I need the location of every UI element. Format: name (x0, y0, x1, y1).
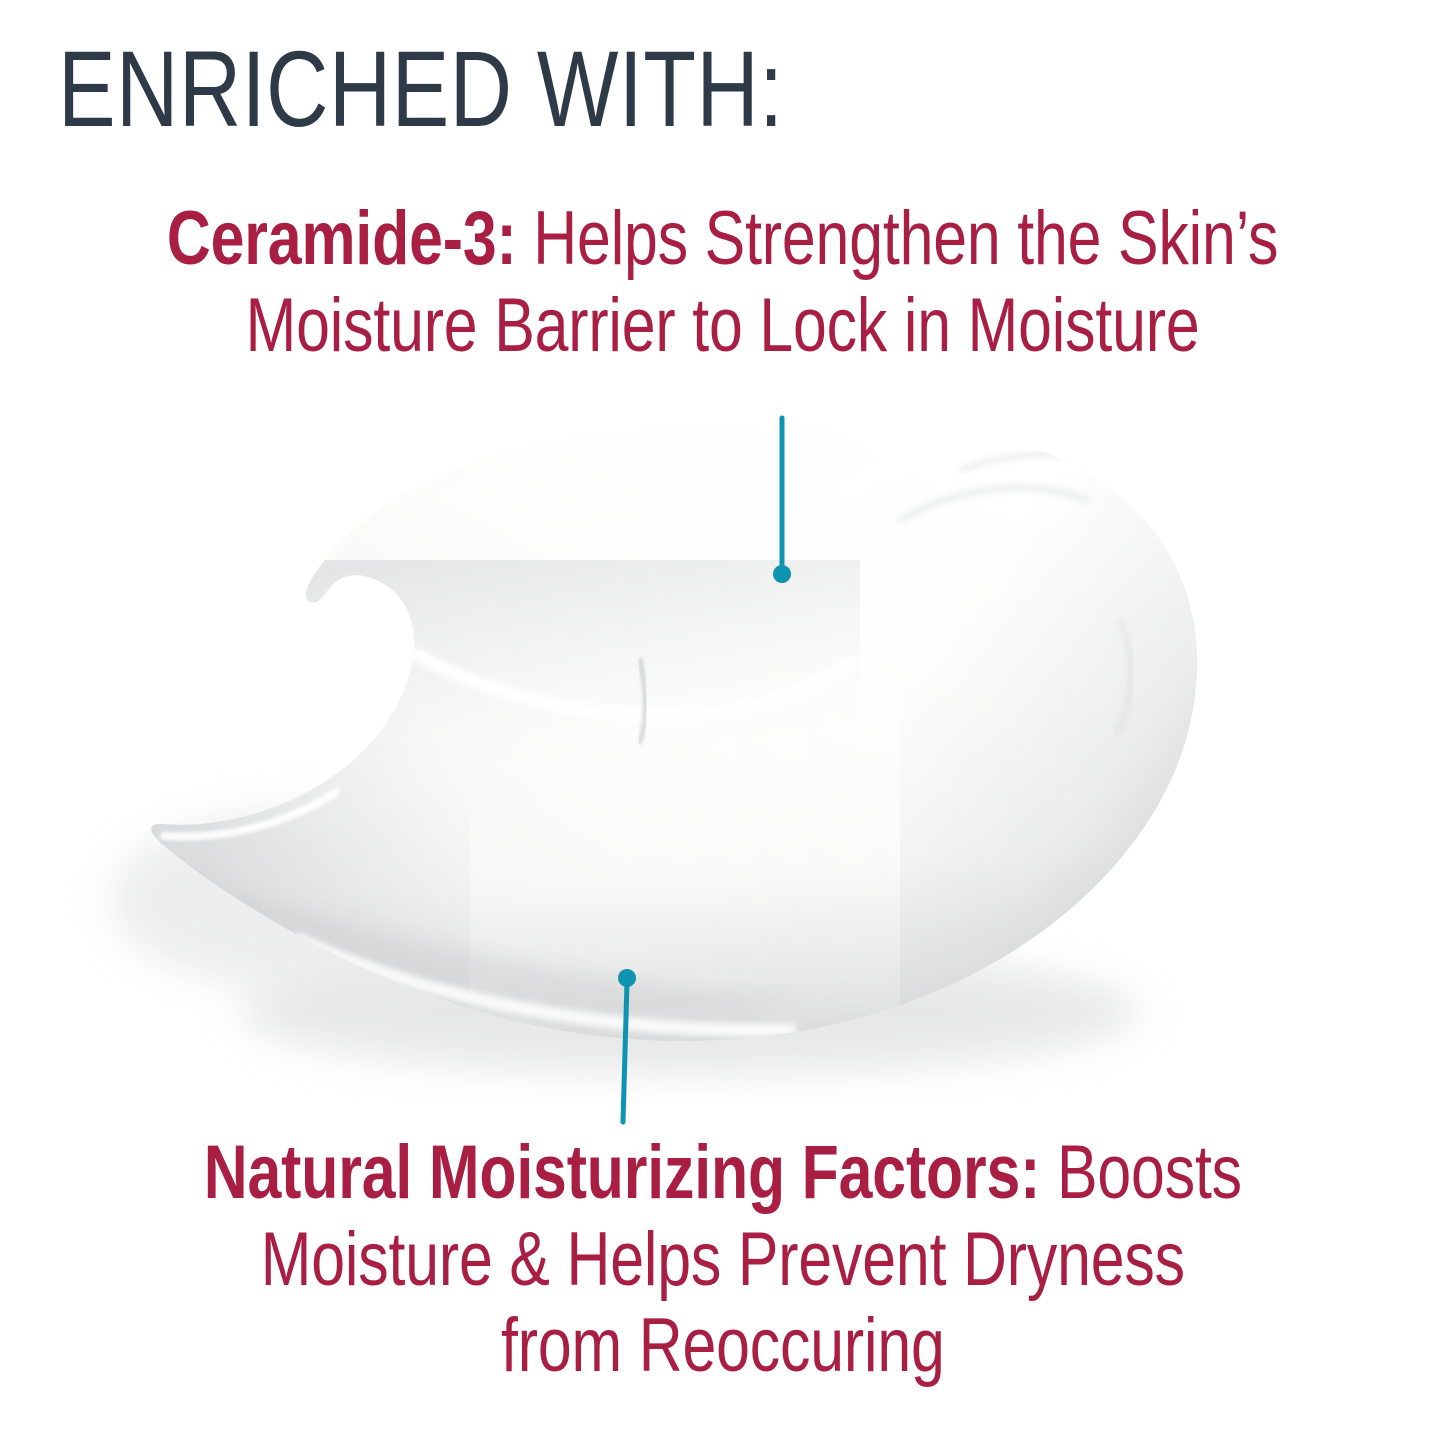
ingredient-nmf-line-1: Natural Moisturizing Factors: Boosts (203, 1130, 1241, 1217)
promo-graphic: ENRICHED WITH: Ceramide-3: Helps Strengt… (0, 0, 1445, 1445)
cream-tail-highlight (164, 792, 336, 837)
ingredient-natural-moisturizing-factors: Natural Moisturizing Factors: Boosts Moi… (0, 1130, 1445, 1390)
ingredient-nmf-line-1-rest: Boosts (1040, 1130, 1242, 1215)
ingredient-ceramide-3-line-1: Ceramide-3: Helps Strengthen the Skin’s (167, 196, 1278, 283)
callout-bottom (595, 962, 665, 1127)
ingredient-nmf-line-2: Moisture & Helps Prevent Dryness (203, 1217, 1241, 1304)
callout-bottom-line (623, 982, 627, 1122)
cream-bottom-highlight (300, 940, 790, 1030)
cream-body (151, 420, 1197, 1041)
ingredient-ceramide-3-line-2: Moisture Barrier to Lock in Moisture (167, 283, 1278, 370)
callout-top-dot (773, 565, 791, 583)
ingredient-ceramide-3: Ceramide-3: Helps Strengthen the Skin’s … (0, 196, 1445, 369)
page-title: ENRICHED WITH: (58, 34, 1130, 144)
callout-bottom-svg (595, 962, 665, 1127)
cream-crease (640, 660, 645, 742)
ingredient-ceramide-3-line-1-rest: Helps Strengthen the Skin’s (517, 196, 1279, 281)
cream-tail-shadow (110, 810, 490, 990)
ingredient-nmf-line-3: from Reoccuring (203, 1303, 1241, 1390)
cream-notch-highlight (332, 596, 852, 716)
callout-top (760, 412, 820, 597)
ingredient-nmf-name: Natural Moisturizing Factors: (203, 1130, 1040, 1215)
callout-top-svg (760, 412, 820, 597)
cream-ground-shadow (240, 950, 1140, 1074)
cream-top-sheen (842, 453, 1072, 492)
ingredient-ceramide-3-name: Ceramide-3: (167, 196, 517, 281)
